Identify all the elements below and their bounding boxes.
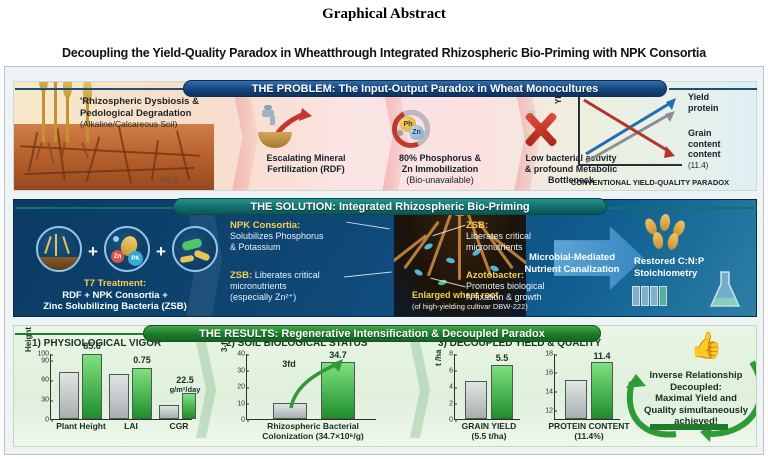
chart3-y-axis-title: t /ha <box>434 350 443 366</box>
chart4-tick: 16 <box>545 369 555 376</box>
azoto-line1: Promotes biological <box>466 281 545 291</box>
chart3-tick: 0 <box>449 417 455 424</box>
step-mid-1: Microbial-Mediated <box>529 252 615 263</box>
t7-title: T7 Treatment: <box>84 278 146 289</box>
chart3-tick: 6 <box>449 367 455 374</box>
chart1-tick: 60 <box>41 377 51 384</box>
zsb-right-line2: micronutrients <box>466 242 523 252</box>
npk-nutrient-icon: Zn PK <box>104 226 150 272</box>
chart1-tick: 30 <box>41 397 51 404</box>
paradox-legend-grain: Grain content content (11.4) <box>688 128 721 171</box>
problem-caption-main: 'Rhizospheric Dysbiosis & Pedological De… <box>80 96 199 119</box>
chart1-plot-area: 100 90 60 30 0 85.6 0.75 22.5 g/m²/day P… <box>50 354 192 420</box>
plus-sign: + <box>88 242 98 262</box>
chart1-bar-conventional <box>59 372 79 419</box>
conclusion-line2: Decoupled: <box>670 382 722 393</box>
zsb-right-line1: Liberates critical <box>466 231 531 241</box>
chart1-value-label: 85.6 <box>83 342 101 352</box>
banner-rule-right <box>605 207 757 209</box>
results-chevron <box>410 342 430 438</box>
chart1-x-label: CGR <box>170 422 189 432</box>
chart2-plot-area: 40 30 20 10 0 3fd 34.7 Rhizospheric Bact… <box>246 354 376 420</box>
npk-consortia-label: NPK Consortia: Solubilizes Phosphorus & … <box>230 220 380 253</box>
chart2-tick: 10 <box>237 400 247 407</box>
chart3-plot-area: 8 6 4 2 0 5.5 GRAIN YIELD (5.5 t/ha) <box>454 354 520 420</box>
step-label-line3: (Bio-unavailable) <box>376 175 504 186</box>
chart2-annotation: 3fd <box>282 360 296 370</box>
problem-banner: THE PROBLEM: The Input-Output Paradox in… <box>183 80 667 97</box>
zsb-left-line1: Liberates critical <box>255 270 320 280</box>
chart3-tick: 4 <box>449 384 455 391</box>
problem-caption-sub: (Alkaline/Calcareous Soil) <box>80 119 177 129</box>
npk-line2: & Potassium <box>230 242 281 252</box>
step-end-2: Stoichiometry <box>634 268 697 279</box>
chart1-bar-t7 <box>182 393 196 419</box>
solution-panel: + Zn PK + T7 Treatment: RDF + NPK Consor… <box>13 199 757 317</box>
npk-title: NPK Consortia: <box>230 220 300 231</box>
chart4-bar-conventional <box>565 380 587 419</box>
chart3-tick: 8 <box>449 351 455 358</box>
nutrient-canalization-step: Microbial-Mediated Nutrient Canalization <box>504 252 640 275</box>
chart3-value-label: 5.5 <box>496 354 509 364</box>
ph-zn-ring-icon: Ph Zn <box>376 108 504 150</box>
plus-sign: + <box>156 242 166 262</box>
problem-panel: 'Rhizospheric Dysbiosis & Pedological De… <box>13 81 757 191</box>
chart2-tick: 30 <box>237 367 247 374</box>
chart1-value-sublabel: g/m²/day <box>170 385 201 395</box>
banner-rule-right <box>669 88 757 90</box>
conclusion-line4: Quality simultaneously <box>644 405 748 416</box>
page-title: Decoupling the Yield-Quality Paradox in … <box>8 46 760 60</box>
problem-caption: 'Rhizospheric Dysbiosis & Pedological De… <box>80 96 216 131</box>
chart1-bar-conventional <box>159 405 179 419</box>
chart4-value-label: 11.4 <box>593 352 610 362</box>
conclusion-line3: Maximal Yield and <box>655 393 737 404</box>
thumbs-up-icon: 👍 <box>690 332 722 358</box>
faucet-soil-icon <box>246 108 366 150</box>
chart1-value-label: 0.75 <box>133 356 151 366</box>
step-label-line1: Escalating Mineral <box>246 153 366 164</box>
abstract-frame: 'Rhizospheric Dysbiosis & Pedological De… <box>4 66 764 455</box>
chart4-bar-t7 <box>591 362 613 419</box>
step-mid-2: Nutrient Canalization <box>524 264 619 275</box>
page-heading: Graphical Abstract <box>0 6 768 23</box>
chart1-x-label: Plant Height <box>56 422 106 432</box>
results-banner: THE RESULTS: Regenerative Intensificatio… <box>143 325 601 342</box>
zn-tag: Zn <box>111 250 124 263</box>
problem-step-fertilization: Escalating Mineral Fertilization (RDF) <box>246 108 366 175</box>
soil-formula-text: /(\O₃)| <box>160 177 179 184</box>
chart1-y-axis-title: Height (cm) <box>24 325 33 352</box>
step-end-1: Restored C:N:P <box>634 256 704 267</box>
paradox-chart: YIELD (t/ha) Yield protein <box>552 88 748 186</box>
zsb-left-line2: micronutrients <box>230 281 287 291</box>
chart1-bar-t7 <box>82 354 102 419</box>
root-caption-2: (of high-yielding cultivar DBW-222) <box>412 302 528 311</box>
results-panel: 1) PHYSIOLOGICAL VIGOR Height (cm) 100 9… <box>13 325 757 447</box>
chart2-tick: 20 <box>237 384 247 391</box>
banner-rule-left <box>15 333 145 335</box>
zsb-left-line3: (especially Zn²⁺) <box>230 292 296 302</box>
chart1-x-label: LAI <box>124 422 138 432</box>
conclusion-line5: achieved! <box>674 416 718 427</box>
chart2-tick: 40 <box>237 351 247 358</box>
chart3-x-label: GRAIN YIELD (5.5 t/ha) <box>462 422 517 441</box>
paradox-legend-yield: Yield protein <box>688 92 719 113</box>
chart1-tick: 90 <box>41 357 51 364</box>
wheat-plant-icon <box>36 226 82 272</box>
bacteria-icon <box>172 226 218 272</box>
conclusion-line1: Inverse Relationship <box>650 370 743 381</box>
chart1-bar-t7 <box>132 368 152 419</box>
step-label-line2: Zn Immobilization <box>376 164 504 175</box>
chart2-tick: 0 <box>241 417 247 424</box>
t7-treatment-caption: T7 Treatment: RDF + NPK Consortia + Zinc… <box>20 278 210 313</box>
chart3-tick: 2 <box>449 400 455 407</box>
zsb-right-title: ZSB: <box>466 220 488 231</box>
chart4-plot-area: 18 16 14 12 11.4 PROTEIN CONTENT (11.4%) <box>554 354 620 420</box>
graphical-abstract-page: Graphical Abstract Decoupling the Yield-… <box>0 0 768 459</box>
t7-line2: Zinc Solubilizing Bacteria (ZSB) <box>43 301 187 312</box>
chart4-tick: 14 <box>545 388 555 395</box>
banner-rule-left <box>15 88 185 90</box>
t7-line1: RDF + NPK Consortia + <box>62 290 168 301</box>
paradox-caption: CONVENTIONAL YIELD-QUALITY PARADOX <box>552 178 748 187</box>
chart3-bar-conventional <box>465 381 487 419</box>
azoto-line2: N fixation & growth <box>466 292 542 302</box>
chart4-tick: 18 <box>545 351 555 358</box>
chart2-x-label: Rhizospheric Bacterial Colonization (34.… <box>262 422 363 441</box>
step-label-line1: 80% Phosphorus & <box>376 153 504 164</box>
zsb-left-title: ZSB: <box>230 270 252 281</box>
npk-line1: Solubilizes Phosphorus <box>230 231 324 241</box>
banner-rule-left <box>15 207 175 209</box>
pk-tag: PK <box>128 251 143 266</box>
problem-step-immobilization: Ph Zn 80% Phosphorus & Zn Immobilization… <box>376 108 504 186</box>
paradox-plot-area <box>578 92 682 166</box>
chart3-bar-t7 <box>491 365 513 420</box>
solution-banner: THE SOLUTION: Integrated Rhizospheric Bi… <box>173 198 607 215</box>
chart1-tick: 0 <box>45 417 51 424</box>
chart1-bar-conventional <box>109 374 129 420</box>
zn-bubble: Zn <box>409 125 424 140</box>
chart4-tick: 12 <box>545 407 555 414</box>
chart2-value-label: 34.7 <box>329 351 347 361</box>
conclusion-text: Inverse Relationship Decoupled: Maximal … <box>626 370 757 428</box>
step-label-line2: Fertilization (RDF) <box>246 164 366 175</box>
